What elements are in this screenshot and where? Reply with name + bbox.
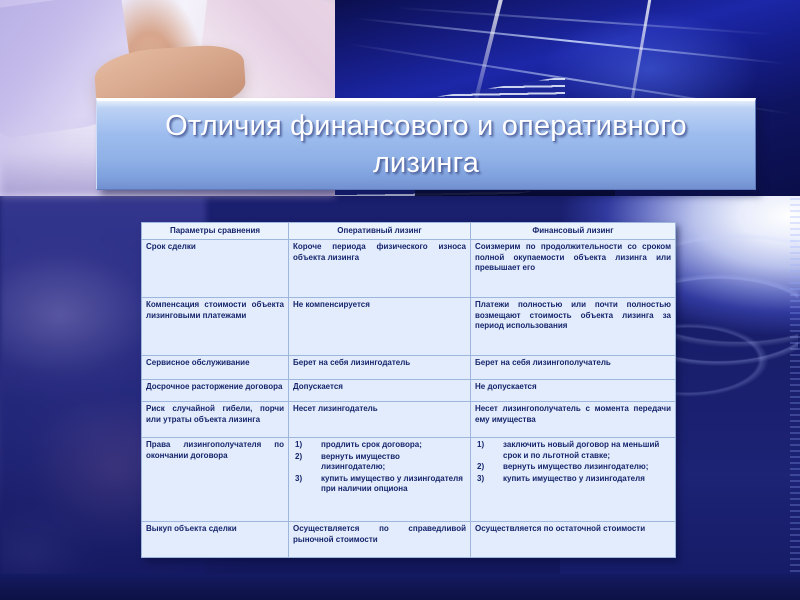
- table-row: Права лизингополучателя по окончании дог…: [142, 438, 676, 522]
- column-header-operative-leasing: Оперативный лизинг: [289, 223, 471, 240]
- list-marker: 2): [293, 452, 321, 474]
- cell-financial: Несет лизингополучатель с момента переда…: [471, 402, 676, 438]
- list-text: вернуть имущество лизингодателю;: [321, 452, 466, 474]
- right-edge-texture: [790, 186, 800, 600]
- list-item: 3) купить имущество у лизингодателя при …: [293, 474, 466, 496]
- cell-parameter: Выкуп объекта сделки: [142, 522, 289, 558]
- cell-parameter: Компенсация стоимости объекта лизинговым…: [142, 298, 289, 356]
- cell-financial: Не допускается: [471, 380, 676, 402]
- slide-title-box: Отличия финансового и оперативного лизин…: [96, 98, 756, 190]
- column-header-financial-leasing: Финансовый лизинг: [471, 223, 676, 240]
- cell-operative: Осуществляется по справедливой рыночной …: [289, 522, 471, 558]
- comparison-table: Параметры сравнения Оперативный лизинг Ф…: [141, 222, 676, 558]
- cell-operative: Не компенсируется: [289, 298, 471, 356]
- cell-financial: Платежи полностью или почти полностью во…: [471, 298, 676, 356]
- table-row: Срок сделки Короче периода физического и…: [142, 240, 676, 298]
- cell-operative-list: 1) продлить срок договора; 2) вернуть им…: [289, 438, 471, 522]
- cell-operative: Несет лизингодатель: [289, 402, 471, 438]
- list-text: продлить срок договора;: [321, 440, 466, 451]
- list-item: 1) заключить новый договор на меньший ср…: [475, 440, 671, 462]
- table-row: Компенсация стоимости объекта лизинговым…: [142, 298, 676, 356]
- list-text: заключить новый договор на меньший срок …: [503, 440, 671, 462]
- list-item: 1) продлить срок договора;: [293, 440, 466, 451]
- cell-financial: Берет на себя лизингополучатель: [471, 356, 676, 380]
- comparison-table-wrapper: Параметры сравнения Оперативный лизинг Ф…: [141, 222, 675, 558]
- list-text: вернуть имущество лизингодателю;: [503, 462, 671, 473]
- numbered-list-financial: 1) заключить новый договор на меньший ср…: [475, 440, 671, 485]
- list-marker: 2): [475, 462, 503, 473]
- table-header-row: Параметры сравнения Оперативный лизинг Ф…: [142, 223, 676, 240]
- list-marker: 3): [475, 474, 503, 485]
- page-title: Отличия финансового и оперативного лизин…: [97, 108, 755, 182]
- table-row: Риск случайной гибели, порчи или утраты …: [142, 402, 676, 438]
- table-row: Досрочное расторжение договора Допускает…: [142, 380, 676, 402]
- list-marker: 1): [293, 440, 321, 451]
- cell-parameter: Риск случайной гибели, порчи или утраты …: [142, 402, 289, 438]
- table-row: Выкуп объекта сделки Осуществляется по с…: [142, 522, 676, 558]
- bottom-band: [0, 574, 800, 600]
- cell-operative: Короче периода физического износа объект…: [289, 240, 471, 298]
- cell-financial: Соизмерим по продолжительности со сроком…: [471, 240, 676, 298]
- list-marker: 3): [293, 474, 321, 496]
- table-row: Сервисное обслуживание Берет на себя лиз…: [142, 356, 676, 380]
- cell-operative: Берет на себя лизингодатель: [289, 356, 471, 380]
- cell-parameter: Сервисное обслуживание: [142, 356, 289, 380]
- list-text: купить имущество у лизингодателя при нал…: [321, 474, 466, 496]
- list-marker: 1): [475, 440, 503, 462]
- list-item: 2) вернуть имущество лизингодателю;: [293, 452, 466, 474]
- column-header-parameters: Параметры сравнения: [142, 223, 289, 240]
- list-text: купить имущество у лизингодателя: [503, 474, 671, 485]
- list-item: 3) купить имущество у лизингодателя: [475, 474, 671, 485]
- cell-parameter: Срок сделки: [142, 240, 289, 298]
- numbered-list-operative: 1) продлить срок договора; 2) вернуть им…: [293, 440, 466, 495]
- cell-operative: Допускается: [289, 380, 471, 402]
- cell-financial: Осуществляется по остаточной стоимости: [471, 522, 676, 558]
- list-item: 2) вернуть имущество лизингодателю;: [475, 462, 671, 473]
- cell-financial-list: 1) заключить новый договор на меньший ср…: [471, 438, 676, 522]
- presentation-slide: Отличия финансового и оперативного лизин…: [0, 0, 800, 600]
- cell-parameter: Досрочное расторжение договора: [142, 380, 289, 402]
- cell-parameter: Права лизингополучателя по окончании дог…: [142, 438, 289, 522]
